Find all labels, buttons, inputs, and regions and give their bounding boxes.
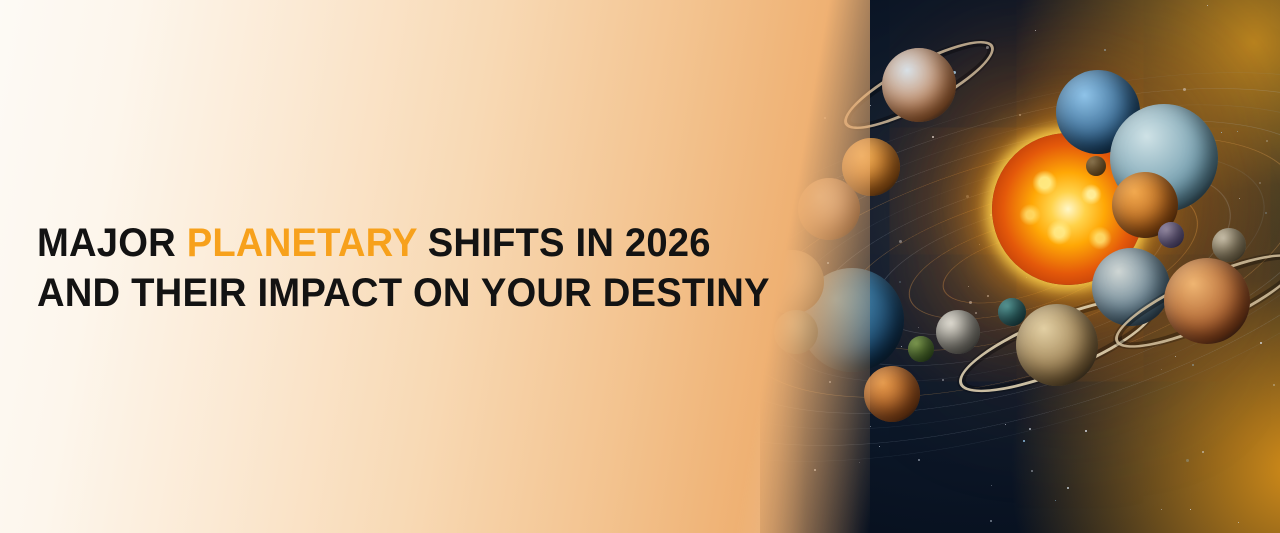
star [1238,522,1239,523]
star [1207,5,1208,6]
star [986,46,989,49]
mars-lower-icon [864,366,920,422]
jupiter-right-icon [1164,258,1250,344]
star [1186,459,1189,462]
star [1085,430,1087,432]
headline-text-after-accent: SHIFTS IN 2026 [417,221,711,265]
star [1202,451,1204,453]
grey-moon-icon [936,310,980,354]
star [1273,384,1275,386]
star [991,485,992,486]
star [1055,500,1056,501]
headline-accent-word: PLANETARY [187,221,417,265]
headline-text-before-accent: MAJOR [37,221,187,265]
saturn-lower-icon [1016,304,1098,386]
star [1031,470,1033,472]
star [1067,487,1069,489]
mercury-small-icon [1086,156,1106,176]
star [1104,49,1106,51]
tan-moon-right-icon [1212,228,1246,262]
star [1190,509,1191,510]
star [990,520,992,522]
page-title: MAJOR PLANETARY SHIFTS IN 2026 AND THEIR… [37,218,782,318]
star [1161,509,1162,510]
green-moon-icon [908,336,934,362]
blue-grey-right-icon [1092,248,1170,326]
star [1035,30,1036,31]
headline-line-1: MAJOR PLANETARY SHIFTS IN 2026 [37,218,782,268]
headline-line-2: AND THEIR IMPACT ON YOUR DESTINY [37,268,782,318]
saturn-upper-icon [882,48,956,122]
lavender-moon-icon [1158,222,1184,248]
promo-banner: MAJOR PLANETARY SHIFTS IN 2026 AND THEIR… [0,0,1280,533]
